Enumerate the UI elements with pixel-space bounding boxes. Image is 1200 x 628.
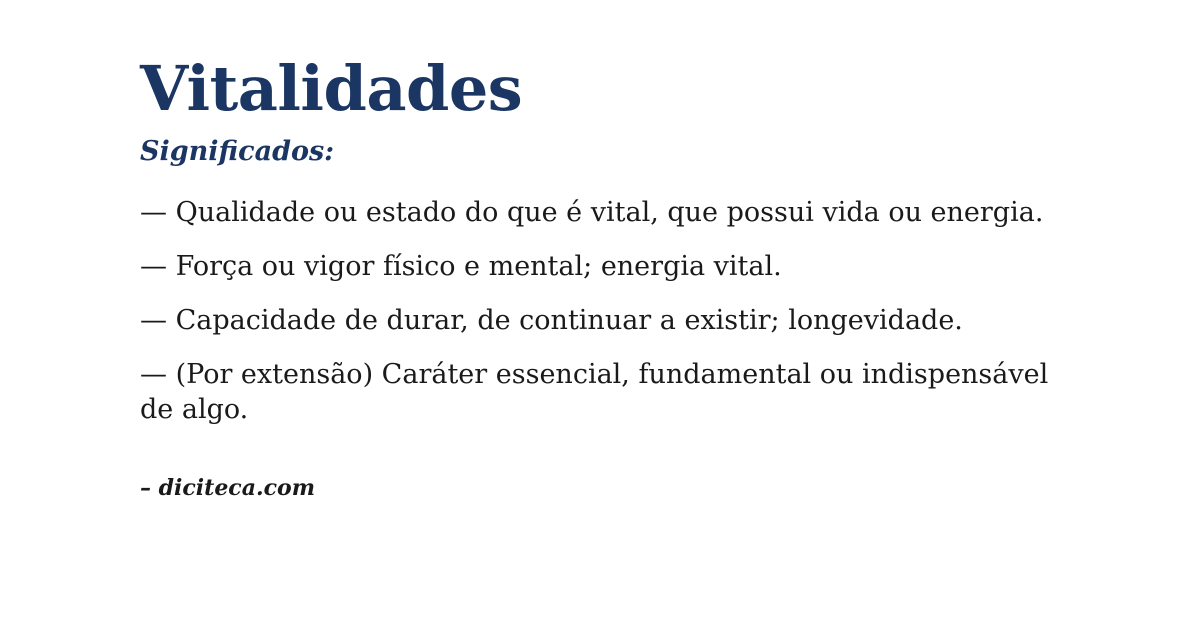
source-attribution: – diciteca.com xyxy=(140,427,1052,499)
meanings-label: Significados: xyxy=(140,120,1052,165)
list-item: — Força ou vigor físico e mental; energi… xyxy=(140,249,1052,284)
list-item: — Qualidade ou estado do que é vital, qu… xyxy=(140,195,1052,230)
card-content: Vitalidades Significados: — Qualidade ou… xyxy=(140,0,1052,499)
definition-card: Vitalidades Significados: — Qualidade ou… xyxy=(0,0,1200,628)
list-item: — (Por extensão) Caráter essencial, fund… xyxy=(140,357,1052,427)
list-item: — Capacidade de durar, de continuar a ex… xyxy=(140,303,1052,338)
page-title: Vitalidades xyxy=(140,0,1052,120)
definition-list: — Qualidade ou estado do que é vital, qu… xyxy=(140,165,1052,427)
